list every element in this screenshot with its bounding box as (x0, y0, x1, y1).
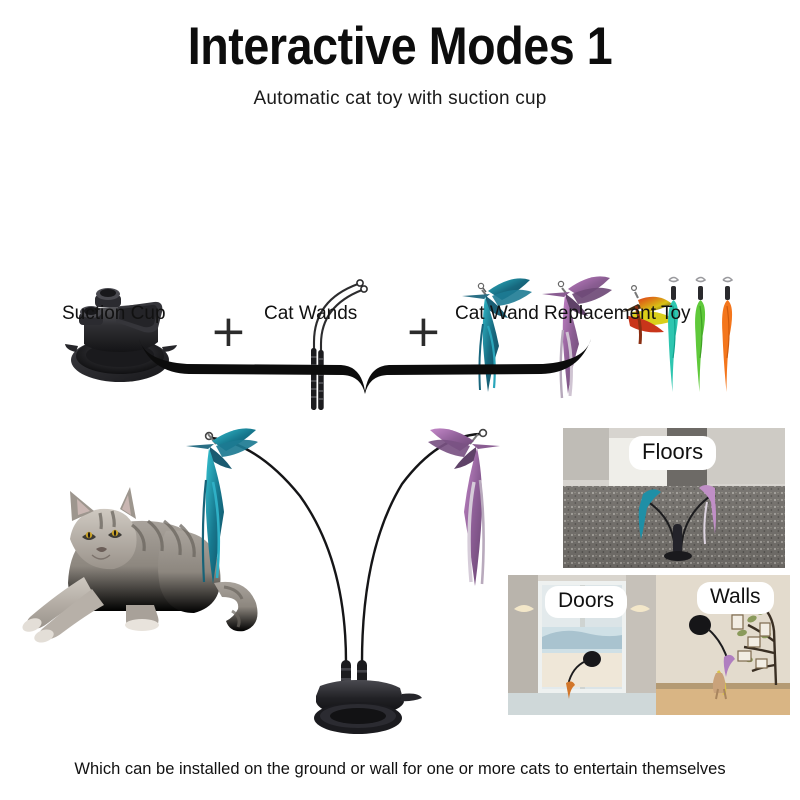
infographic-page: Interactive Modes 1 Automatic cat toy wi… (0, 0, 800, 800)
page-subtitle: Automatic cat toy with suction cup (0, 88, 800, 110)
badge-floors: Floors (629, 436, 716, 470)
label-replacement-toy: Cat Wand Replacement Toy (455, 303, 691, 325)
footer-caption: Which can be installed on the ground or … (0, 760, 800, 779)
curly-brace-down-icon (135, 335, 595, 395)
page-title: Interactive Modes 1 (48, 18, 752, 76)
badge-doors: Doors (545, 586, 627, 618)
product-rig-photo (150, 410, 540, 740)
badge-walls: Walls (697, 582, 774, 614)
parts-labels: Suction Cup Cat Wands Cat Wand Replaceme… (0, 303, 800, 331)
label-suction-cup: Suction Cup (62, 303, 166, 325)
parts-row: + + (0, 130, 800, 280)
label-cat-wands: Cat Wands (264, 303, 357, 325)
